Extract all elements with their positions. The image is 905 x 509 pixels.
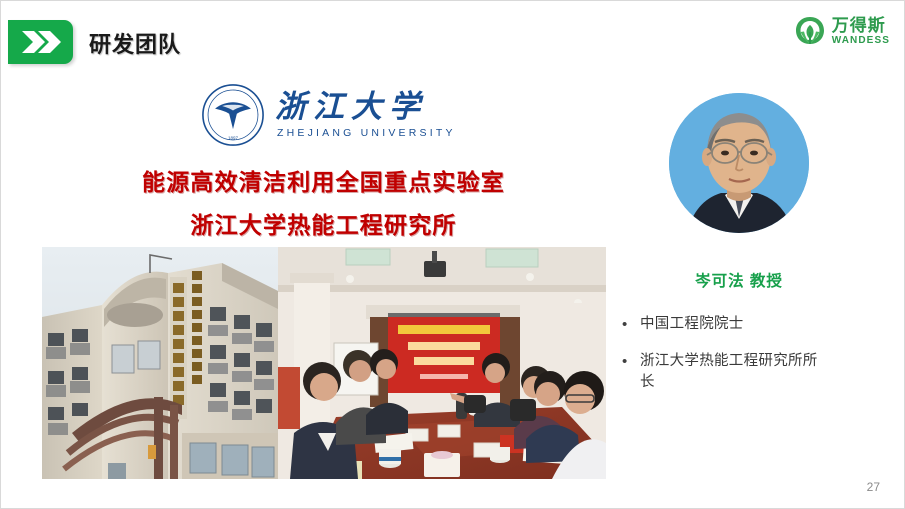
university-name-cn: 浙江大学 [275,91,456,124]
professor-portrait [669,93,809,233]
university-logo: 1897 浙江大学 ZHEJIANG UNIVERSITY [201,83,456,147]
credential-text: 浙江大学热能工程研究所所长 [640,351,832,393]
zhejiang-university-seal-icon: 1897 [201,83,265,147]
page-number: 27 [867,480,880,494]
double-chevron-right-icon [20,29,62,55]
credential-text: 中国工程院院士 [640,314,744,335]
institute-building-photo [42,247,278,479]
bullet-dot-icon: • [619,314,640,335]
wandess-leaf-logo-icon [794,15,826,47]
meeting-room-illustration [278,247,606,479]
building-illustration [42,247,278,479]
brand-name-cn: 万得斯 [832,17,890,34]
portrait-photo [669,93,809,233]
professor-credentials: • 中国工程院院士 • 浙江大学热能工程研究所所长 [619,314,889,409]
lab-title-line-1: 能源高效清洁利用全国重点实验室 [41,163,606,197]
brand-name-en: WANDESS [832,36,890,46]
list-item: • 中国工程院院士 [619,314,889,335]
page-title: 研发团队 [89,27,181,59]
svg-text:1897: 1897 [228,135,238,140]
lab-title-line-2: 浙江大学热能工程研究所 [41,206,606,240]
professor-name: 岑可法 教授 [631,269,847,291]
brand-logo: 万得斯 WANDESS [794,15,890,47]
section-badge [8,20,73,64]
joint-center-meeting-photo [278,247,606,479]
bullet-dot-icon: • [619,351,640,372]
list-item: • 浙江大学热能工程研究所所长 [619,351,889,393]
slide-canvas: 研发团队 万得斯 WANDESS 1897 浙江大学 ZHEJIANG UNIV [0,0,905,509]
photo-strip [42,247,606,479]
university-name-en: ZHEJIANG UNIVERSITY [277,127,456,139]
